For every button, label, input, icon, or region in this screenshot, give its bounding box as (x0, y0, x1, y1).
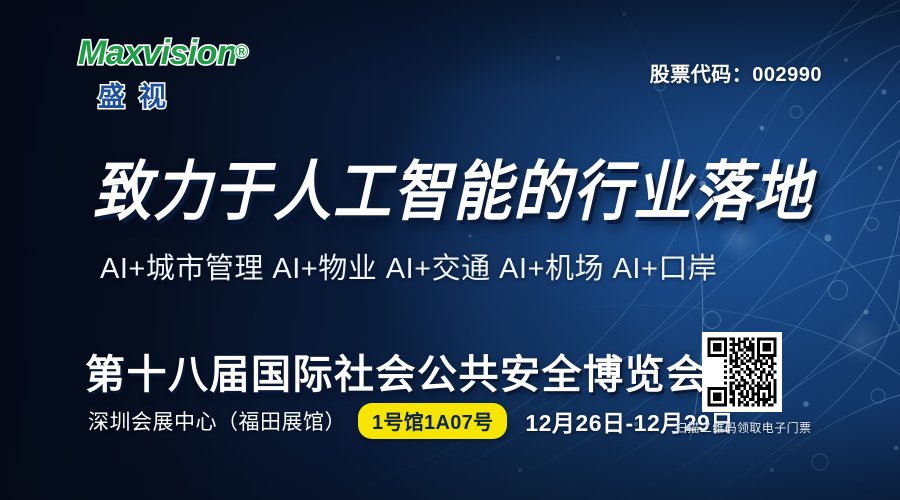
headline-text: 致力于人工智能的行业落地 (93, 160, 813, 225)
logo-english-row: Maxvision® (78, 36, 248, 70)
expo-title: 第十八届国际社会公共安全博览会 (85, 342, 708, 400)
qr-code-caption: 扫描二维码领取电子门票 (675, 419, 784, 436)
venue-info-row: 深圳会展中心（福田展馆） 1号馆1A07号 12月26日-12月29日 (88, 403, 734, 439)
stock-code-label: 股票代码：002990 (650, 58, 822, 87)
promo-banner: Maxvision® 盛视 股票代码：002990 致力于人工智能的行业落地 A… (0, 0, 900, 500)
qr-code-block[interactable]: 扫描二维码领取电子门票 (702, 332, 784, 436)
registered-trademark-icon: ® (235, 42, 248, 62)
venue-name: 深圳会展中心（福田展馆） (88, 406, 346, 436)
logo-english-text: Maxvision (78, 34, 237, 72)
logo-chinese-text: 盛视 (98, 75, 248, 114)
brand-logo: Maxvision® 盛视 (78, 36, 248, 114)
subheadline-text: AI+城市管理 AI+物业 AI+交通 AI+机场 AI+口岸 (100, 245, 717, 287)
booth-number-badge: 1号馆1A07号 (358, 403, 507, 439)
qr-code-icon[interactable] (702, 332, 782, 412)
